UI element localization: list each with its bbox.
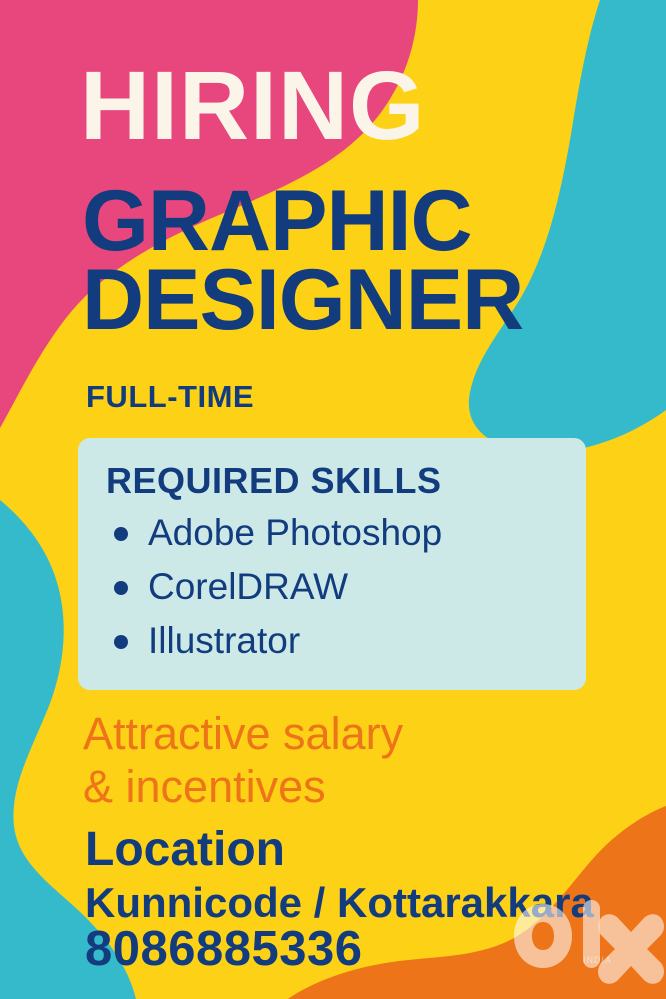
employment-type: FULL-TIME — [86, 381, 254, 412]
olx-watermark-subtext: INDIA — [583, 955, 612, 965]
location-label: Location — [85, 826, 285, 874]
skill-item: CorelDRAW — [106, 560, 586, 614]
required-skills-list: Adobe Photoshop CorelDRAW Illustrator — [106, 506, 586, 668]
required-skills-title: REQUIRED SKILLS — [106, 460, 586, 502]
location-place: Kunnicode / Kottarakkara — [85, 882, 594, 924]
bullet-icon — [114, 581, 128, 595]
salary-note-line-1: Attractive salary — [83, 708, 403, 761]
eyebrow-hiring: HIRING — [80, 57, 426, 154]
bullet-icon — [114, 635, 128, 649]
required-skills-card: REQUIRED SKILLS Adobe Photoshop CorelDRA… — [78, 438, 586, 690]
skill-item: Illustrator — [106, 614, 586, 668]
salary-note-line-2: & incentives — [83, 761, 403, 814]
bullet-icon — [114, 527, 128, 541]
skill-label: CorelDRAW — [148, 566, 348, 607]
salary-note: Attractive salary & incentives — [83, 708, 403, 813]
skill-item: Adobe Photoshop — [106, 506, 586, 560]
job-poster: HIRING GRAPHIC DESIGNER FULL-TIME REQUIR… — [0, 0, 666, 999]
olx-letter-x — [598, 914, 664, 984]
job-title: GRAPHIC DESIGNER — [82, 182, 523, 340]
skill-label: Adobe Photoshop — [148, 512, 442, 553]
skill-label: Illustrator — [148, 620, 300, 661]
job-title-line-2: DESIGNER — [82, 261, 523, 340]
job-title-line-1: GRAPHIC — [82, 182, 523, 261]
contact-phone-number: 8086885336 — [85, 925, 363, 974]
